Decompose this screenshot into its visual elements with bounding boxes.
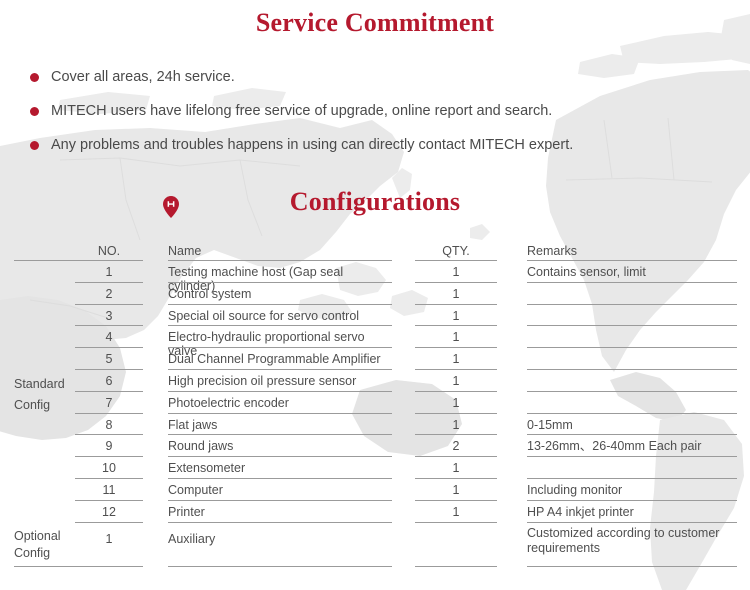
group-label-optional-config: OptionalConfig	[14, 528, 74, 562]
row-divider	[75, 325, 143, 326]
row-divider	[168, 434, 392, 435]
row-divider	[75, 282, 143, 283]
list-item-text: Cover all areas, 24h service.	[51, 68, 235, 86]
row-divider	[527, 478, 737, 479]
row-divider	[168, 369, 392, 370]
table-cell-name: Round jaws	[168, 439, 392, 453]
table-cell-qty: 1	[415, 309, 497, 323]
row-divider	[14, 566, 143, 567]
list-item: MITECH users have lifelong free service …	[30, 96, 730, 126]
row-divider	[527, 391, 737, 392]
row-divider	[168, 347, 392, 348]
row-divider	[168, 413, 392, 414]
row-divider	[415, 456, 497, 457]
table-header-row: NO. Name QTY. Remarks	[0, 240, 750, 262]
row-divider	[168, 456, 392, 457]
table-cell-remarks: HP A4 inkjet printer	[527, 505, 737, 519]
table-cell-qty: 2	[415, 439, 497, 453]
configurations-table: NO. Name QTY. Remarks 1Testing machine h…	[0, 240, 750, 262]
group-label-standard-config: StandardConfig	[14, 374, 74, 416]
table-cell-qty: 1	[415, 505, 497, 519]
table-cell-name: Computer	[168, 483, 392, 497]
row-divider	[75, 391, 143, 392]
row-divider	[527, 522, 737, 523]
list-item: Cover all areas, 24h service.	[30, 62, 730, 92]
table-cell-qty: 1	[415, 461, 497, 475]
row-divider	[415, 478, 497, 479]
row-divider	[527, 282, 737, 283]
table-cell-qty: 1	[415, 374, 497, 388]
table-cell-remarks: Including monitor	[527, 483, 737, 497]
table-cell-name: Control system	[168, 287, 392, 301]
row-divider	[527, 325, 737, 326]
row-divider	[75, 413, 143, 414]
row-divider	[415, 413, 497, 414]
row-divider	[75, 434, 143, 435]
table-cell-remarks: 13-26mm、26-40mm Each pair	[527, 439, 737, 453]
table-cell-qty: 1	[415, 265, 497, 279]
table-cell-name: Photoelectric encoder	[168, 396, 392, 410]
table-cell-no: 1	[75, 532, 143, 546]
row-divider	[527, 434, 737, 435]
table-cell-remarks: 0-15mm	[527, 418, 737, 432]
row-divider	[415, 282, 497, 283]
page-title-service-commitment: Service Commitment	[0, 8, 750, 38]
row-divider	[14, 260, 143, 261]
table-cell-name: Extensometer	[168, 461, 392, 475]
table-cell-remarks: Customized according to customer require…	[527, 526, 737, 556]
table-cell-name: Printer	[168, 505, 392, 519]
row-divider	[75, 347, 143, 348]
table-cell-no: 7	[75, 396, 143, 410]
group-label-line2: Config	[14, 398, 50, 412]
table-cell-name: High precision oil pressure sensor	[168, 374, 392, 388]
row-divider	[415, 347, 497, 348]
page-root: Service Commitment Cover all areas, 24h …	[0, 0, 750, 590]
column-header-qty: QTY.	[415, 244, 497, 258]
table-cell-name: Special oil source for servo control	[168, 309, 392, 323]
table-cell-no: 4	[75, 330, 143, 344]
table-cell-no: 10	[75, 461, 143, 475]
row-divider	[168, 282, 392, 283]
table-cell-remarks: Contains sensor, limit	[527, 265, 737, 279]
table-cell-no: 8	[75, 418, 143, 432]
table-cell-name: Flat jaws	[168, 418, 392, 432]
row-divider	[168, 566, 392, 567]
row-divider	[527, 304, 737, 305]
row-divider	[168, 325, 392, 326]
list-item-text: Any problems and troubles happens in usi…	[51, 136, 573, 154]
row-divider	[415, 500, 497, 501]
service-commitment-list: Cover all areas, 24h service. MITECH use…	[30, 62, 730, 164]
row-divider	[75, 304, 143, 305]
row-divider	[415, 391, 497, 392]
table-cell-no: 1	[75, 265, 143, 279]
row-divider	[527, 500, 737, 501]
row-divider	[527, 347, 737, 348]
table-cell-no: 5	[75, 352, 143, 366]
row-divider	[415, 325, 497, 326]
table-cell-no: 9	[75, 439, 143, 453]
row-divider	[415, 434, 497, 435]
row-divider	[168, 304, 392, 305]
column-header-remarks: Remarks	[527, 244, 737, 258]
row-divider	[415, 566, 497, 567]
table-cell-no: 11	[75, 483, 143, 497]
row-divider	[75, 369, 143, 370]
table-cell-qty: 1	[415, 418, 497, 432]
row-divider	[415, 522, 497, 523]
column-header-name: Name	[168, 244, 392, 258]
row-divider	[527, 369, 737, 370]
row-divider	[75, 500, 143, 501]
row-divider	[75, 478, 143, 479]
row-divider	[527, 413, 737, 414]
table-cell-name: Dual Channel Programmable Amplifier	[168, 352, 392, 366]
row-divider	[415, 369, 497, 370]
table-cell-name: Auxiliary	[168, 532, 392, 546]
row-divider	[527, 260, 737, 261]
column-header-no: NO.	[75, 244, 143, 258]
table-cell-qty: 1	[415, 483, 497, 497]
row-divider	[168, 478, 392, 479]
bullet-icon	[30, 107, 39, 116]
row-divider	[168, 260, 392, 261]
table-cell-qty: 1	[415, 287, 497, 301]
group-label-line2: Config	[14, 546, 50, 560]
page-title-configurations: Configurations	[0, 187, 750, 217]
table-cell-qty: 1	[415, 330, 497, 344]
bullet-icon	[30, 141, 39, 150]
row-divider	[415, 260, 497, 261]
table-cell-qty: 1	[415, 352, 497, 366]
group-label-line1: Optional	[14, 529, 61, 543]
table-cell-no: 2	[75, 287, 143, 301]
list-item: Any problems and troubles happens in usi…	[30, 130, 730, 160]
table-cell-qty: 1	[415, 396, 497, 410]
row-divider	[168, 391, 392, 392]
row-divider	[75, 456, 143, 457]
bullet-icon	[30, 73, 39, 82]
row-divider	[168, 522, 392, 523]
row-divider	[75, 522, 143, 523]
group-label-line1: Standard	[14, 377, 65, 391]
list-item-text: MITECH users have lifelong free service …	[51, 102, 552, 120]
table-cell-no: 12	[75, 505, 143, 519]
row-divider	[168, 500, 392, 501]
row-divider	[415, 304, 497, 305]
row-divider	[527, 566, 737, 567]
row-divider	[527, 456, 737, 457]
table-cell-no: 6	[75, 374, 143, 388]
table-cell-no: 3	[75, 309, 143, 323]
